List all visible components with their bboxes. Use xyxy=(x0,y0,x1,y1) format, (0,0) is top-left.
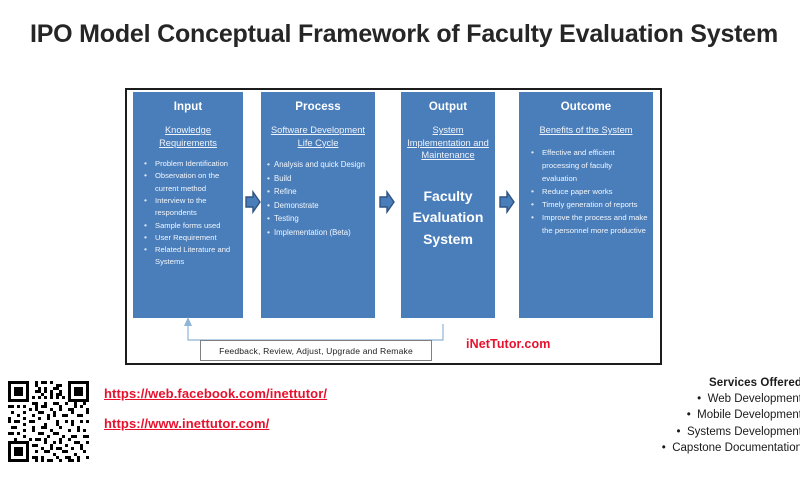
arrow-right-icon xyxy=(379,190,395,214)
list-item: Demonstrate xyxy=(267,199,370,213)
output-system-name: Faculty Evaluation System xyxy=(401,186,495,251)
arrow-right-icon xyxy=(499,190,515,214)
column-subheading-input: Knowledge Requirements xyxy=(133,124,243,149)
list-item: Reduce paper works xyxy=(530,185,648,198)
list-item: Refine xyxy=(267,185,370,199)
list-item: Improve the process and make the personn… xyxy=(530,211,648,237)
column-subheading-outcome: Benefits of the System xyxy=(519,124,653,137)
ipo-column-outcome: Outcome Benefits of the System Effective… xyxy=(519,92,653,318)
list-item: Related Literature and Systems xyxy=(143,244,238,269)
ipo-column-process: Process Software Development Life Cycle … xyxy=(261,92,375,318)
column-list-input: Problem Identification Observation on th… xyxy=(133,158,243,269)
qr-code-icon xyxy=(5,378,92,465)
list-item: Effective and efficient processing of fa… xyxy=(530,146,648,185)
list-item: Build xyxy=(267,172,370,186)
list-item: Capstone Documentation xyxy=(662,440,800,456)
list-item: Sample forms used xyxy=(143,220,238,232)
list-item: Interview to the respondents xyxy=(143,195,238,220)
list-item: Observation on the current method xyxy=(143,170,238,195)
ipo-column-output: Output System Implementation and Mainten… xyxy=(401,92,495,318)
list-item: Systems Development xyxy=(662,424,800,440)
column-subheading-process: Software Development Life Cycle xyxy=(261,124,375,149)
list-item: Problem Identification xyxy=(143,158,238,170)
column-list-outcome: Effective and efficient processing of fa… xyxy=(519,146,653,238)
column-heading-output: Output xyxy=(401,101,495,113)
list-item: Implementation (Beta) xyxy=(267,226,370,240)
column-subheading-output: System Implementation and Maintenance xyxy=(401,124,495,162)
feedback-label: Feedback, Review, Adjust, Upgrade and Re… xyxy=(219,346,413,356)
list-item: Web Development xyxy=(662,391,800,407)
column-heading-outcome: Outcome xyxy=(519,101,653,113)
services-title: Services Offered xyxy=(662,377,800,389)
column-list-process: Analysis and quick Design Build Refine D… xyxy=(261,158,375,239)
column-heading-input: Input xyxy=(133,101,243,113)
column-heading-process: Process xyxy=(261,101,375,113)
brand-watermark: iNetTutor.com xyxy=(466,337,550,351)
feedback-box: Feedback, Review, Adjust, Upgrade and Re… xyxy=(200,340,432,361)
list-item: User Requirement xyxy=(143,232,238,244)
ipo-column-input: Input Knowledge Requirements Problem Ide… xyxy=(133,92,243,318)
list-item: Testing xyxy=(267,212,370,226)
services-list: Web Development Mobile Development Syste… xyxy=(662,391,800,456)
page-title: IPO Model Conceptual Framework of Facult… xyxy=(28,20,780,49)
list-item: Mobile Development xyxy=(662,407,800,423)
list-item: Timely generation of reports xyxy=(530,198,648,211)
link-facebook[interactable]: https://web.facebook.com/inettutor/ xyxy=(104,386,327,401)
arrow-right-icon xyxy=(245,190,261,214)
link-website[interactable]: https://www.inettutor.com/ xyxy=(104,416,269,431)
services-offered: Services Offered Web Development Mobile … xyxy=(662,377,800,456)
list-item: Analysis and quick Design xyxy=(267,158,370,172)
